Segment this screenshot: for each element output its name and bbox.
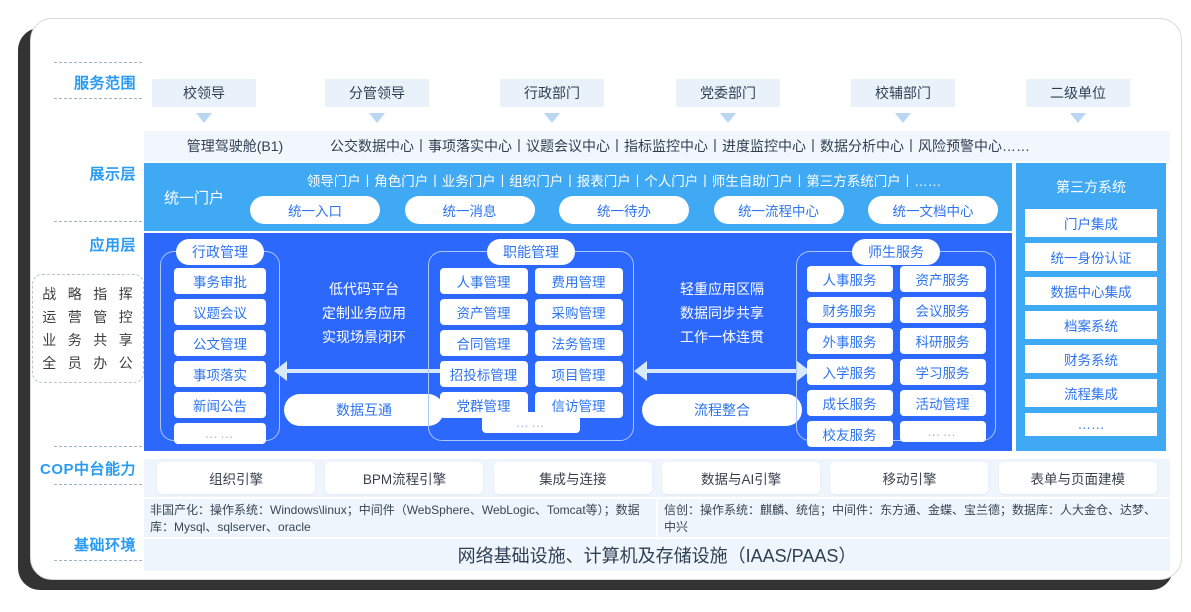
scope-box-secondary-unit[interactable]: 二级单位	[1026, 79, 1130, 107]
capability-matrix: 战 略 指 挥 运 营 管 控 业 务 共 享 全 员 办 公	[32, 274, 144, 383]
application-layer: 行政管理 事务审批 议题会议 公文管理 事项落实 新闻公告 …… 低代码平台 定…	[144, 233, 1012, 451]
portal-pill-row: 统一入口 统一消息 统一待办 统一流程中心 统一文档中心	[244, 196, 1004, 224]
matrix-cell: 务	[64, 330, 86, 350]
cop-item-mobile-engine[interactable]: 移动引擎	[830, 462, 988, 494]
matrix-row: 全 员 办 公	[37, 353, 139, 373]
rail-label-base-env: 基础环境	[14, 534, 142, 555]
app-item-matter-implementation[interactable]: 事项落实	[174, 361, 266, 387]
third-party-item-unified-identity[interactable]: 统一身份认证	[1025, 243, 1157, 271]
third-party-item-more[interactable]: ……	[1025, 413, 1157, 436]
app-item-learning-service[interactable]: 学习服务	[900, 359, 986, 385]
third-party-item-archive-system[interactable]: 档案系统	[1025, 311, 1157, 339]
portal-pill-unified-process-center[interactable]: 统一流程中心	[714, 196, 844, 224]
app-group-title-administrative: 行政管理	[176, 239, 264, 265]
app-item-meeting-service[interactable]: 会议服务	[900, 297, 986, 323]
app-item-foreign-affairs-service[interactable]: 外事服务	[807, 328, 893, 354]
cockpit-title: 管理驾驶舱(B1)	[144, 136, 326, 156]
cop-item-integration-connection[interactable]: 集成与连接	[494, 462, 652, 494]
base-env-domestic-xinchuang: 信创：操作系统：麒麟、统信；中间件：东方通、金蝶、宝兰德；数据库：人大金仓、达梦…	[658, 499, 1170, 537]
connector-left-pill-data-interop[interactable]: 数据互通	[284, 394, 444, 426]
double-arrow-icon-left	[274, 361, 454, 381]
app-group-title-functional: 职能管理	[487, 239, 575, 265]
down-arrow-icon	[720, 113, 736, 123]
cop-item-org-engine[interactable]: 组织引擎	[157, 462, 315, 494]
matrix-cell: 公	[115, 353, 137, 373]
app-item-admission-service[interactable]: 入学服务	[807, 359, 893, 385]
matrix-cell: 办	[90, 353, 112, 373]
down-arrow-icon	[369, 113, 385, 123]
app-item-hr-service[interactable]: 人事服务	[807, 266, 893, 292]
rail-divider	[54, 560, 142, 561]
matrix-row: 运 营 管 控	[37, 307, 139, 327]
matrix-row: 业 务 共 享	[37, 330, 139, 350]
app-item-more[interactable]: ……	[174, 423, 266, 444]
rail-label-service-scope: 服务范围	[14, 72, 142, 93]
scope-box-vice-leader[interactable]: 分管领导	[325, 79, 429, 107]
app-item-project-mgmt[interactable]: 项目管理	[535, 361, 623, 387]
app-item-more[interactable]: ……	[900, 421, 986, 442]
down-arrow-icon	[1070, 113, 1086, 123]
third-party-item-data-center-integration[interactable]: 数据中心集成	[1025, 277, 1157, 305]
app-item-more[interactable]: ……	[482, 412, 580, 433]
double-arrow-icon-right	[634, 361, 810, 381]
app-group-title-teacher-student: 师生服务	[852, 239, 940, 265]
matrix-cell: 业	[39, 330, 61, 350]
connector-right-text: 轻重应用区隔 数据同步共享 工作一体连贯	[646, 277, 798, 349]
app-item-column: 人事管理 资产管理 合同管理 招投标管理 党群管理	[440, 268, 528, 418]
app-item-column: 人事服务 财务服务 外事服务 入学服务 成长服务 校友服务	[807, 266, 893, 447]
app-item-research-service[interactable]: 科研服务	[900, 328, 986, 354]
down-arrow-icon	[544, 113, 560, 123]
unified-portal-title: 统一门户	[144, 187, 244, 208]
matrix-cell: 控	[115, 307, 137, 327]
matrix-cell: 战	[39, 284, 61, 304]
scope-box-school-leader[interactable]: 校领导	[152, 79, 256, 107]
portal-type-list: 领导门户丨角色门户丨业务门户丨组织门户丨报表门户丨个人门户丨师生自助门户丨第三方…	[244, 170, 1004, 190]
rail-label-application: 应用层	[14, 234, 142, 255]
rail-label-cop: COP中台能力	[14, 458, 142, 479]
third-party-title: 第三方系统	[1025, 177, 1157, 197]
connector-left-line1: 低代码平台	[288, 277, 440, 301]
app-item-news-announcement[interactable]: 新闻公告	[174, 392, 266, 418]
app-item-expense-mgmt[interactable]: 费用管理	[535, 268, 623, 294]
app-item-alumni-service[interactable]: 校友服务	[807, 421, 893, 447]
matrix-cell: 员	[64, 353, 86, 373]
portal-pill-unified-message[interactable]: 统一消息	[405, 196, 535, 224]
app-item-asset-mgmt[interactable]: 资产管理	[440, 299, 528, 325]
arrow-head-left-icon	[274, 361, 287, 381]
app-item-affairs-approval[interactable]: 事务审批	[174, 268, 266, 294]
app-group-items-teacher-student: 人事服务 财务服务 外事服务 入学服务 成长服务 校友服务 资产服务 会议服务 …	[797, 252, 995, 455]
rail-divider	[54, 484, 142, 485]
scope-box-admin-dept[interactable]: 行政部门	[500, 79, 604, 107]
app-item-legal-mgmt[interactable]: 法务管理	[535, 330, 623, 356]
app-group-items-functional: 人事管理 资产管理 合同管理 招投标管理 党群管理 费用管理 采购管理 法务管理…	[429, 252, 633, 426]
connector-right-line1: 轻重应用区隔	[646, 277, 798, 301]
presentation-layer: 统一门户 领导门户丨角色门户丨业务门户丨组织门户丨报表门户丨个人门户丨师生自助门…	[144, 163, 1012, 231]
app-item-growth-service[interactable]: 成长服务	[807, 390, 893, 416]
arrow-head-left-icon	[634, 361, 647, 381]
presentation-body: 领导门户丨角色门户丨业务门户丨组织门户丨报表门户丨个人门户丨师生自助门户丨第三方…	[244, 170, 1012, 224]
matrix-cell: 享	[115, 330, 137, 350]
down-arrow-icon	[895, 113, 911, 123]
app-item-column: 事务审批 议题会议 公文管理 事项落实 新闻公告 ……	[174, 268, 266, 444]
rail-divider	[54, 446, 142, 447]
matrix-row: 战 略 指 挥	[37, 284, 139, 304]
app-group-functional: 职能管理 人事管理 资产管理 合同管理 招投标管理 党群管理 费用管理 采购管理…	[428, 251, 634, 441]
arrow-shaft	[287, 369, 441, 373]
app-item-document-mgmt[interactable]: 公文管理	[174, 330, 266, 356]
cockpit-centers-list: 公交数据中心丨事项落实中心丨议题会议中心丨指标监控中心丨进度监控中心丨数据分析中…	[326, 136, 1170, 156]
diagram-root: 服务范围 展示层 应用层 战 略 指 挥 运 营 管 控 业 务 共 享	[0, 0, 1191, 612]
third-party-panel: 第三方系统 门户集成 统一身份认证 数据中心集成 档案系统 财务系统 流程集成 …	[1016, 163, 1166, 451]
matrix-cell: 全	[39, 353, 61, 373]
scope-box-party-dept[interactable]: 党委部门	[676, 79, 780, 107]
app-item-activity-mgmt[interactable]: 活动管理	[900, 390, 986, 416]
connector-right-pill-process-integration[interactable]: 流程整合	[642, 394, 802, 426]
down-arrow-icon	[196, 113, 212, 123]
arrow-shaft	[647, 369, 797, 373]
app-item-column: 资产服务 会议服务 科研服务 学习服务 活动管理 ……	[900, 266, 986, 447]
rail-divider	[54, 221, 142, 222]
app-group-administrative: 行政管理 事务审批 议题会议 公文管理 事项落实 新闻公告 ……	[160, 251, 280, 441]
base-env-non-domestic: 非国产化：操作系统：Windows\linux；中间件（WebSphere、We…	[144, 499, 656, 537]
infrastructure-bar: 网络基础设施、计算机及存储设施（IAAS/PAAS）	[144, 539, 1170, 571]
app-item-procurement-mgmt[interactable]: 采购管理	[535, 299, 623, 325]
connector-left-text: 低代码平台 定制业务应用 实现场景闭环	[288, 277, 440, 349]
app-item-finance-service[interactable]: 财务服务	[807, 297, 893, 323]
app-item-hr-mgmt[interactable]: 人事管理	[440, 268, 528, 294]
app-item-asset-service[interactable]: 资产服务	[900, 266, 986, 292]
rail-divider	[54, 98, 142, 99]
cop-item-bpm-engine[interactable]: BPM流程引擎	[325, 462, 483, 494]
app-item-topic-meeting[interactable]: 议题会议	[174, 299, 266, 325]
connector-right-line3: 工作一体连贯	[646, 325, 798, 349]
portal-pill-unified-entry[interactable]: 统一入口	[250, 196, 380, 224]
matrix-cell: 指	[90, 284, 112, 304]
rail-divider	[54, 62, 142, 63]
app-item-column: 费用管理 采购管理 法务管理 项目管理 信访管理	[535, 268, 623, 418]
scope-box-aux-dept[interactable]: 校辅部门	[851, 79, 955, 107]
app-group-teacher-student: 师生服务 人事服务 财务服务 外事服务 入学服务 成长服务 校友服务 资产服务 …	[796, 251, 996, 441]
layer-label-rail: 服务范围 展示层 应用层 战 略 指 挥 运 营 管 控 业 务 共 享	[14, 46, 142, 566]
app-item-contract-mgmt[interactable]: 合同管理	[440, 330, 528, 356]
cop-item-form-page-modeling[interactable]: 表单与页面建模	[999, 462, 1157, 494]
portal-pill-unified-doc-center[interactable]: 统一文档中心	[868, 196, 998, 224]
matrix-cell: 略	[64, 284, 86, 304]
portal-pill-unified-todo[interactable]: 统一待办	[559, 196, 689, 224]
connector-left-line3: 实现场景闭环	[288, 325, 440, 349]
matrix-cell: 运	[39, 307, 61, 327]
cop-item-data-ai-engine[interactable]: 数据与AI引擎	[662, 462, 820, 494]
connector-left-line2: 定制业务应用	[288, 301, 440, 325]
app-group-items-administrative: 事务审批 议题会议 公文管理 事项落实 新闻公告 ……	[161, 252, 279, 452]
matrix-cell: 管	[90, 307, 112, 327]
base-environment-row: 非国产化：操作系统：Windows\linux；中间件（WebSphere、We…	[144, 499, 1170, 537]
matrix-cell: 共	[90, 330, 112, 350]
app-item-bidding-mgmt[interactable]: 招投标管理	[440, 361, 528, 387]
matrix-cell: 挥	[115, 284, 137, 304]
cockpit-bar: 管理驾驶舱(B1) 公交数据中心丨事项落实中心丨议题会议中心丨指标监控中心丨进度…	[144, 131, 1170, 161]
rail-label-presentation: 展示层	[14, 163, 142, 184]
third-party-item-process-integration[interactable]: 流程集成	[1025, 379, 1157, 407]
third-party-item-finance-system[interactable]: 财务系统	[1025, 345, 1157, 373]
matrix-cell: 营	[64, 307, 86, 327]
third-party-item-portal-integration[interactable]: 门户集成	[1025, 209, 1157, 237]
cop-capability-row: 组织引擎 BPM流程引擎 集成与连接 数据与AI引擎 移动引擎 表单与页面建模	[144, 459, 1170, 497]
connector-right-line2: 数据同步共享	[646, 301, 798, 325]
